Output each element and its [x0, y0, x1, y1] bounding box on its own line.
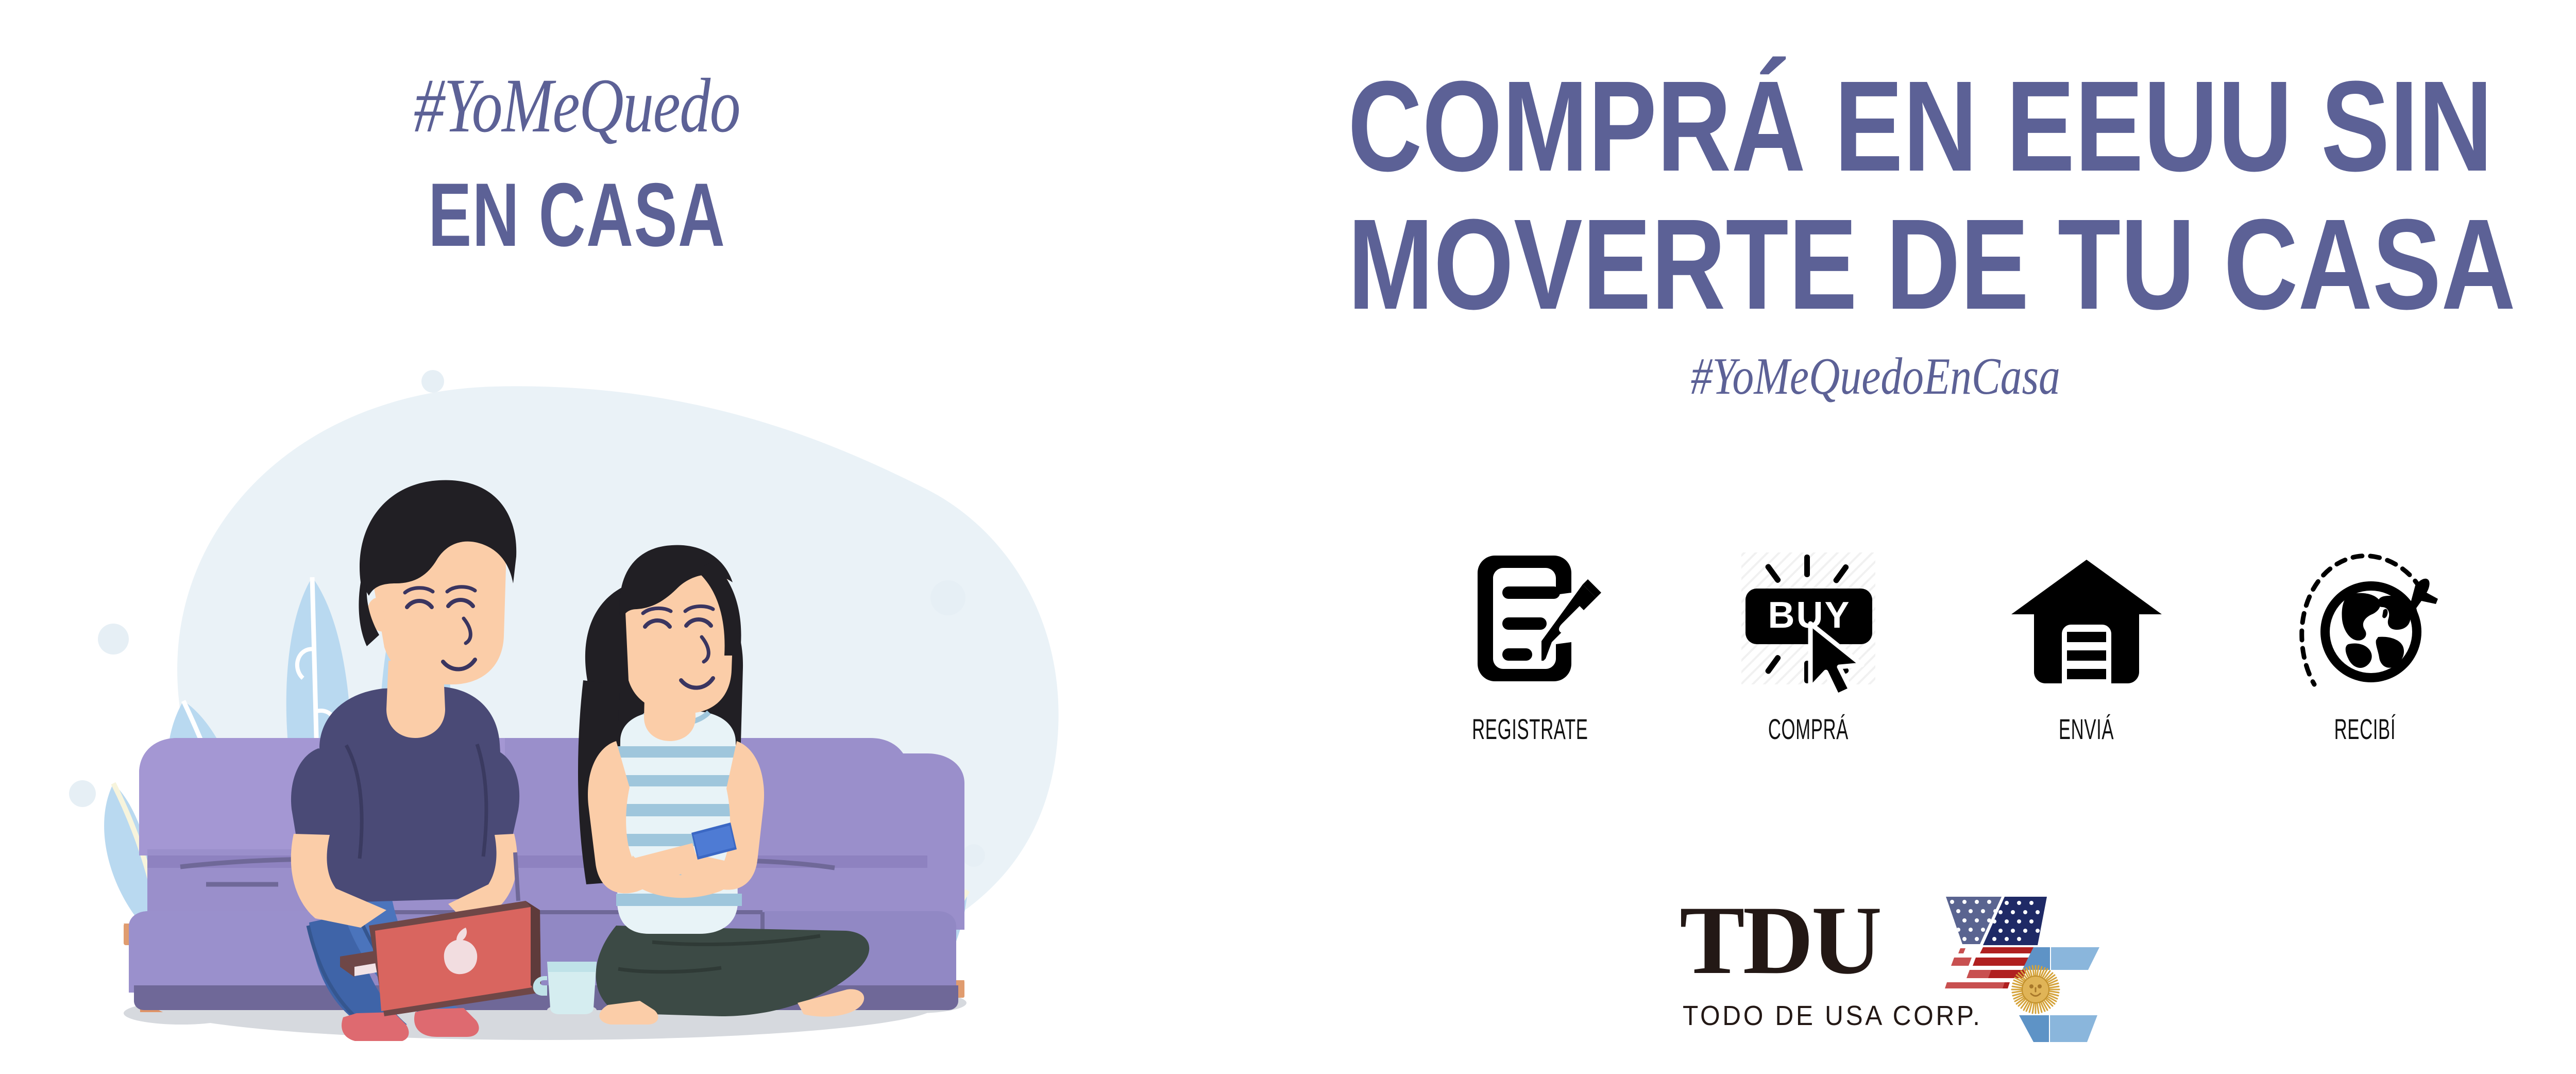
couple-at-home-illustration — [52, 320, 1113, 1041]
step-registrate[interactable]: REGISTRATE — [1412, 536, 1649, 746]
left-hashtag-text: #YoMeQuedo — [414, 67, 740, 144]
headline-line-2: MOVERTE DE TU CASA — [1348, 200, 2403, 329]
warehouse-icon — [2009, 536, 2164, 701]
left-panel: #YoMeQuedo EN CASA — [0, 0, 1154, 1074]
decor-dot — [962, 844, 985, 867]
step-label-envia: ENVIÁ — [2059, 712, 2114, 746]
decor-dot — [930, 580, 965, 615]
step-label-recibi: RECIBÍ — [2334, 712, 2395, 746]
step-label-registrate: REGISTRATE — [1472, 712, 1588, 746]
decor-dot — [421, 370, 444, 393]
headline-line-1: COMPRÁ EN EEUU SIN — [1348, 62, 2403, 191]
step-label-compra: COMPRÁ — [1768, 712, 1849, 746]
usa-argentina-flag-x-mark — [1940, 887, 2120, 1045]
tdu-logo[interactable]: TDU TODO DE USA CORP. — [1680, 876, 2133, 1046]
right-panel: COMPRÁ EN EEUU SIN MOVERTE DE TU CASA #Y… — [1154, 0, 2576, 1074]
decor-dot — [98, 624, 129, 655]
logo-tagline: TODO DE USA CORP. — [1683, 1000, 1982, 1032]
step-envia[interactable]: ENVIÁ — [1968, 536, 2205, 746]
document-pencil-icon — [1453, 536, 1607, 701]
decor-dot — [69, 780, 96, 807]
left-hashtag-block: #YoMeQuedo — [0, 67, 1154, 144]
steps-row: REGISTRATE — [1412, 536, 2483, 783]
globe-airplane-icon — [2287, 536, 2442, 701]
buy-button-cursor-icon: BUY — [1731, 536, 1886, 701]
sub-hashtag: #YoMeQuedoEnCasa — [1216, 350, 2535, 403]
left-subtitle-text: EN CASA — [428, 170, 725, 260]
sub-hashtag-text: #YoMeQuedoEnCasa — [1690, 350, 2060, 403]
left-subtitle-block: EN CASA — [0, 170, 1154, 260]
step-recibi[interactable]: RECIBÍ — [2246, 536, 2483, 746]
main-headline: COMPRÁ EN EEUU SIN MOVERTE DE TU CASA — [1216, 62, 2535, 329]
logo-wordmark: TDU — [1680, 892, 1880, 989]
step-compra[interactable]: BUY COMPRÁ — [1690, 536, 1927, 746]
